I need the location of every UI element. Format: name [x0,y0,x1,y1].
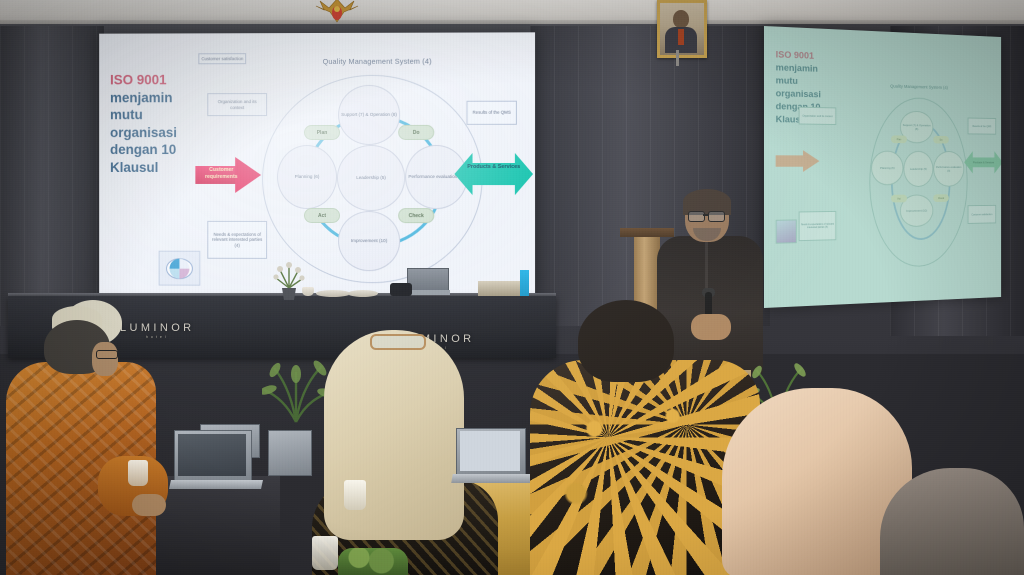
slide-title-iso: ISO 9001 [110,71,201,89]
box-organization-context: Organization and its context [207,93,267,116]
input-arrow-label: Customer requirements [199,167,243,180]
foreground-foliage [338,548,408,575]
drinking-glass-2 [312,536,338,570]
output-arrow-products-services: Products & Services [456,153,531,195]
slide-title: ISO 9001 menjamin mutu organisasi dengan… [110,71,201,176]
snack-plate-2 [348,290,378,297]
pdca-act: Act [304,208,340,223]
pdca-plan: Plan [304,125,340,140]
slide-title-line6: Klausul [110,160,158,175]
official-portrait [657,0,707,58]
hijab-veil [324,330,464,540]
eyeglasses-right-lens [708,211,725,222]
side-screen-tint [764,26,1001,308]
slide-title-line2: menjamin [110,90,173,105]
output-arrow-label: Products & Services [466,164,520,171]
blue-banner-strip [520,270,529,296]
node-support-operation: Support (7) & Operation (8) [338,85,400,145]
qms-diagram: Quality Management System (4) Support (7… [198,52,529,293]
curtain-left [0,26,104,326]
microphone-stand-base [390,283,412,296]
laptop-attendee-left [170,430,254,492]
drinking-glass-1 [344,480,366,510]
node-improvement: Improvement (10) [338,211,400,271]
pdca-check: Check [398,208,434,223]
slide-title-line4: organisasi [110,125,177,140]
laptop-attendee-center [452,428,528,486]
snack-plate-1 [316,290,350,297]
cardboard-box [478,281,522,296]
potted-plant-head-table [272,258,306,300]
attendee-grey-hair [880,468,1024,575]
garuda-emblem [306,0,368,26]
attendee-batik-sunflower [540,300,740,575]
seminar-room-photo: ISO 9001 menjamin mutu organisasi dengan… [0,0,1024,575]
box-needs-expectations: Needs & expectations of relevant interes… [207,221,267,259]
main-projection-screen: ISO 9001 menjamin mutu organisasi dengan… [99,32,535,297]
attendee-batik-orange [14,306,150,575]
qms-diagram-heading: Quality Management System (4) [282,57,472,66]
iso-certification-logo [159,251,201,286]
laptop-attendee-center-back [268,430,312,482]
coffee-cup [302,287,314,296]
input-arrow-customer-requirements: Customer requirements [195,157,261,193]
drinking-glass-3 [128,460,148,486]
portrait-stand [676,50,679,66]
pdca-do: Do [398,125,434,140]
slide-title-line3: mutu [110,107,143,122]
secondary-projection-screen: ISO 9001 menjamin mutu organisasi dengan… [764,26,1001,308]
attendee-eyeglasses [96,350,118,359]
sunglasses-on-head [370,334,426,350]
node-leadership: Leadership (5) [337,145,405,211]
box-customer-satisfaction: Customer satisfaction [198,53,246,64]
node-planning: Planning (6) [277,145,337,209]
eyeglasses-left-lens [688,211,705,222]
box-results-of-qms: Results of the QMS [466,101,516,125]
slide-title-line5: dengan 10 [110,142,176,157]
